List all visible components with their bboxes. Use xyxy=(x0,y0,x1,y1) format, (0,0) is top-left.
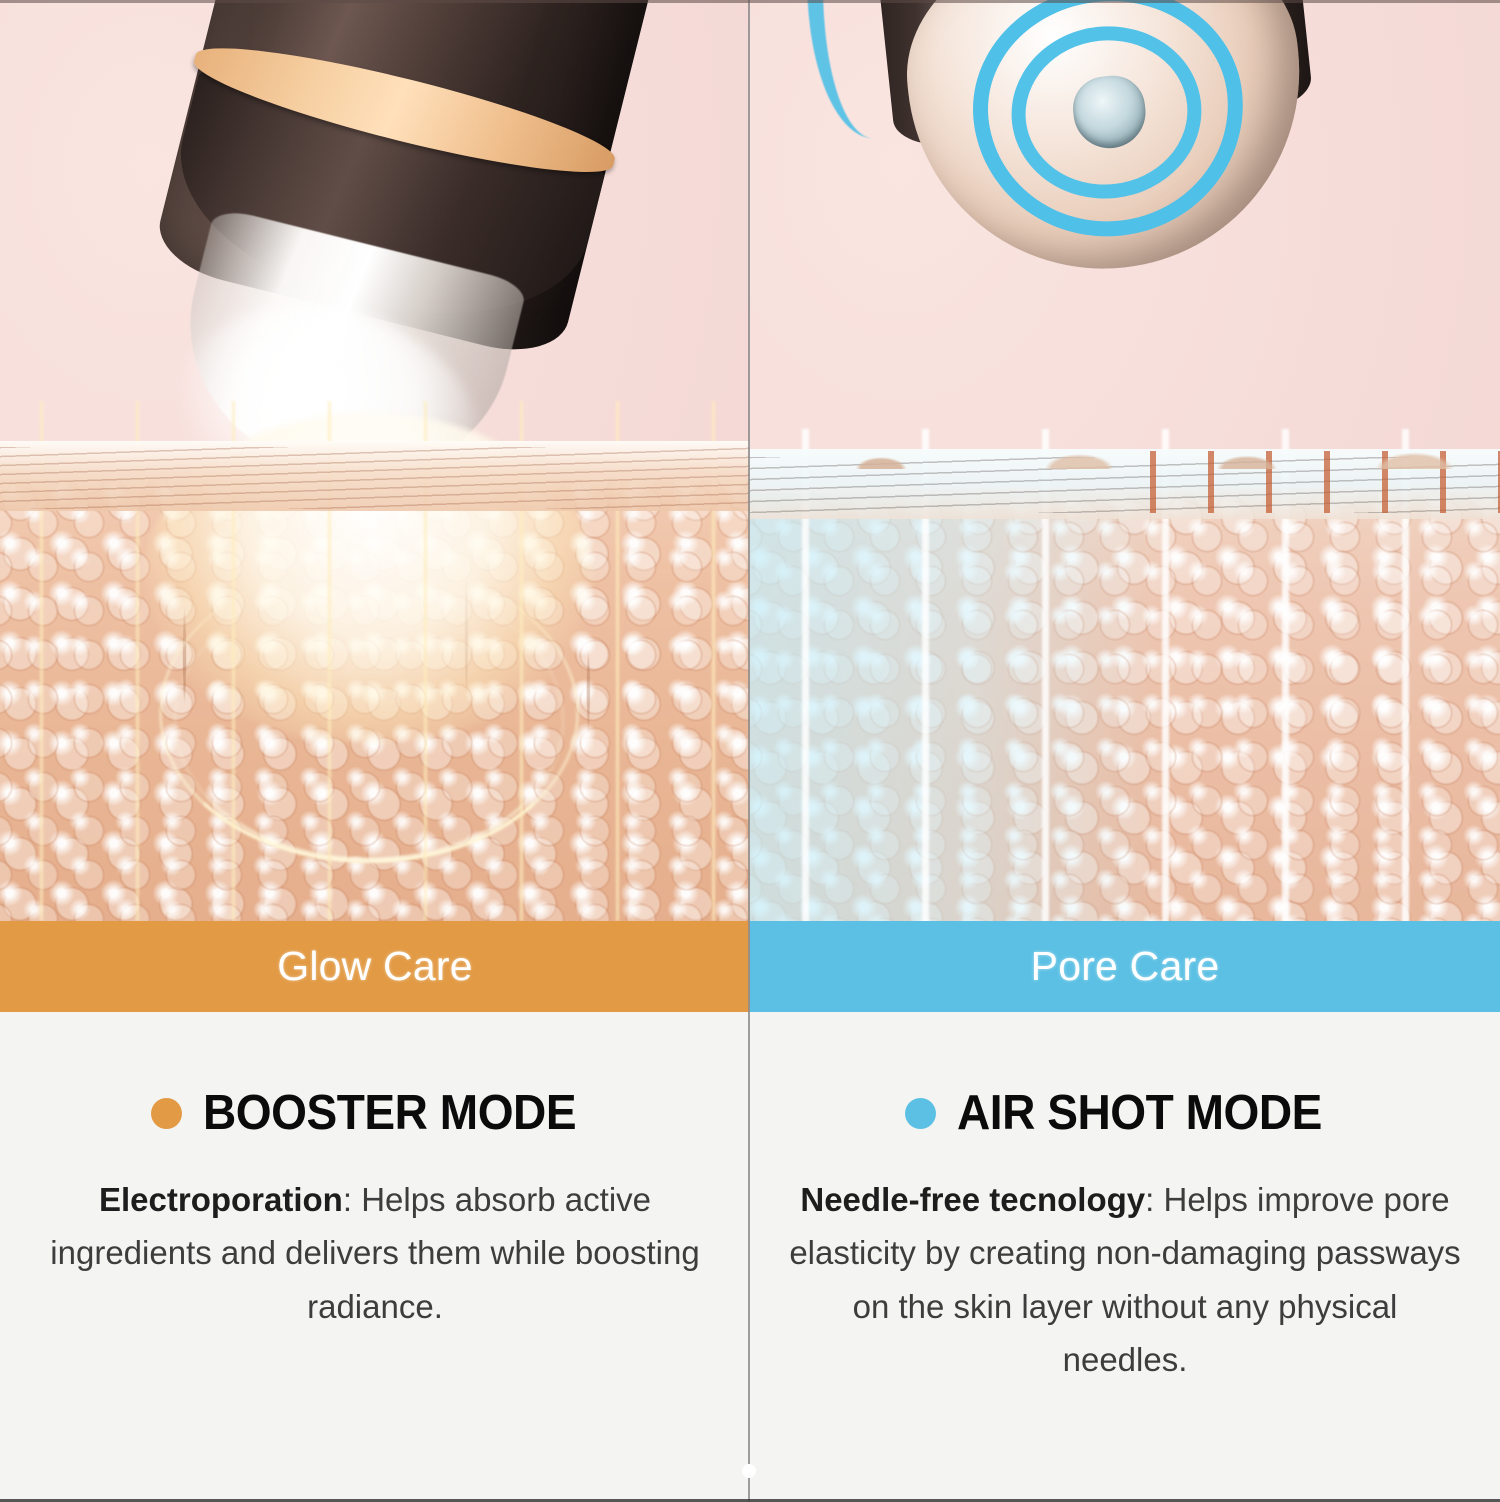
pore-care-image xyxy=(750,0,1500,921)
booster-mode-description-separator: : xyxy=(343,1181,361,1218)
skin-surface-layer xyxy=(0,441,750,511)
product-comparison-infographic: Glow Care BOOSTER MODE Electroporation: … xyxy=(0,0,1500,1502)
skin-cross-section-glow xyxy=(0,441,750,921)
glow-care-banner-label: Glow Care xyxy=(277,943,472,990)
glow-care-banner: Glow Care xyxy=(0,921,750,1012)
panels-container: Glow Care BOOSTER MODE Electroporation: … xyxy=(0,0,1500,1502)
air-shot-mode-description-lead: Needle-free tecnology xyxy=(800,1181,1145,1218)
divider-dot xyxy=(742,1464,756,1478)
booster-mode-description: Electroporation: Helps absorb active ing… xyxy=(0,1173,750,1333)
booster-mode-bullet-icon xyxy=(151,1098,182,1129)
panel-pore-care: Pore Care AIR SHOT MODE Needle-free tecn… xyxy=(750,0,1500,1502)
air-shot-mode-description: Needle-free tecnology: Helps improve por… xyxy=(750,1173,1500,1387)
booster-mode-heading-row: BOOSTER MODE xyxy=(0,1012,750,1141)
booster-mode-heading: BOOSTER MODE xyxy=(203,1085,576,1141)
air-shot-mode-heading: AIR SHOT MODE xyxy=(957,1085,1322,1141)
air-shot-mode-description-separator: : xyxy=(1145,1181,1163,1218)
glow-care-text-block: BOOSTER MODE Electroporation: Helps abso… xyxy=(0,1012,750,1502)
pore-care-text-block: AIR SHOT MODE Needle-free tecnology: Hel… xyxy=(750,1012,1500,1502)
skin-cross-section-pore xyxy=(750,449,1500,921)
booster-mode-description-lead: Electroporation xyxy=(99,1181,343,1218)
epidermis-striations xyxy=(0,447,750,509)
skin-surface-layer xyxy=(750,449,1500,519)
pore-care-banner: Pore Care xyxy=(750,921,1500,1012)
glow-care-image xyxy=(0,0,750,921)
surface-debris xyxy=(750,409,1500,469)
panel-glow-care: Glow Care BOOSTER MODE Electroporation: … xyxy=(0,0,750,1502)
top-border xyxy=(0,0,1500,3)
air-shot-mode-heading-row: AIR SHOT MODE xyxy=(750,1012,1500,1141)
air-shot-mode-bullet-icon xyxy=(905,1098,936,1129)
panel-divider xyxy=(748,0,750,1502)
pore-care-banner-label: Pore Care xyxy=(1031,943,1220,990)
